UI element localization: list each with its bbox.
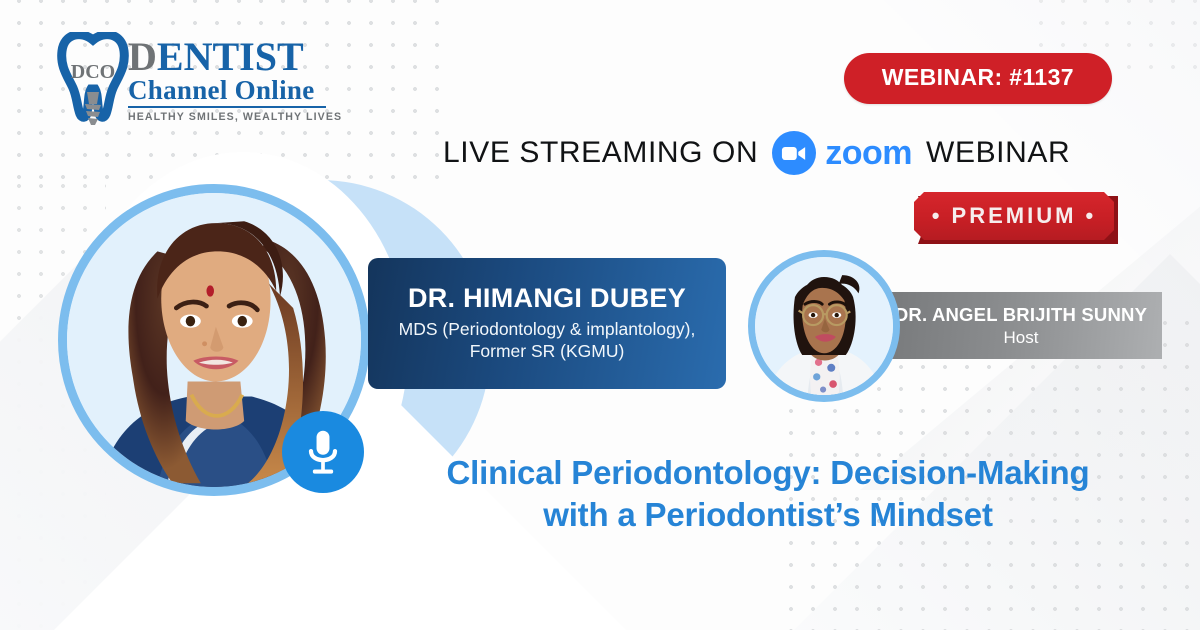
- brand-name-entist: ENTIST: [157, 34, 304, 79]
- speaker-credentials: MDS (Periodontology & implantology), For…: [382, 318, 712, 362]
- zoom-video-camera-icon: [772, 131, 816, 175]
- live-streaming-prefix: LIVE STREAMING ON: [443, 136, 758, 170]
- brand-logo[interactable]: DCO DENTIST Channel Online HEALTHY SMILE…: [50, 30, 350, 130]
- webinar-number-badge: WEBINAR: #1137: [844, 53, 1112, 104]
- brand-name-line2: Channel Online: [128, 76, 342, 104]
- zoom-logo[interactable]: zoom: [772, 131, 912, 175]
- host-portrait: [755, 257, 893, 395]
- host-name: DR. ANGEL BRIJITH SUNNY: [895, 304, 1147, 326]
- speaker-name: DR. HIMANGI DUBEY: [408, 281, 686, 315]
- webinar-banner: DCO DENTIST Channel Online HEALTHY SMILE…: [0, 0, 1200, 630]
- brand-wordmark: DENTIST Channel Online HEALTHY SMILES, W…: [128, 36, 342, 123]
- svg-text:DCO: DCO: [71, 61, 115, 83]
- premium-ribbon-front: • PREMIUM •: [914, 192, 1114, 240]
- host-nameplate: DR. ANGEL BRIJITH SUNNY Host: [880, 292, 1162, 359]
- premium-ribbon: • PREMIUM •: [914, 192, 1114, 240]
- brand-name-d: D: [128, 34, 157, 79]
- brand-tagline: HEALTHY SMILES, WEALTHY LIVES: [128, 111, 342, 123]
- live-streaming-suffix: WEBINAR: [926, 136, 1070, 170]
- premium-label: • PREMIUM •: [932, 203, 1097, 229]
- host-photo: [748, 250, 900, 402]
- page-title-line1: Clinical Periodontology: Decision-Making: [398, 452, 1138, 494]
- page-title-line2: with a Periodontist’s Mindset: [398, 494, 1138, 536]
- host-role: Host: [1004, 327, 1039, 348]
- brand-name-line1: DENTIST: [128, 36, 342, 78]
- microphone-icon: [282, 411, 364, 493]
- brand-divider: [128, 106, 326, 108]
- page-title: Clinical Periodontology: Decision-Making…: [398, 452, 1138, 536]
- speaker-nameplate: DR. HIMANGI DUBEY MDS (Periodontology & …: [368, 258, 726, 389]
- zoom-wordmark: zoom: [825, 136, 912, 170]
- live-streaming-row: LIVE STREAMING ON zoom WEBINAR: [443, 130, 1070, 176]
- tooth-implant-icon: DCO: [54, 32, 132, 128]
